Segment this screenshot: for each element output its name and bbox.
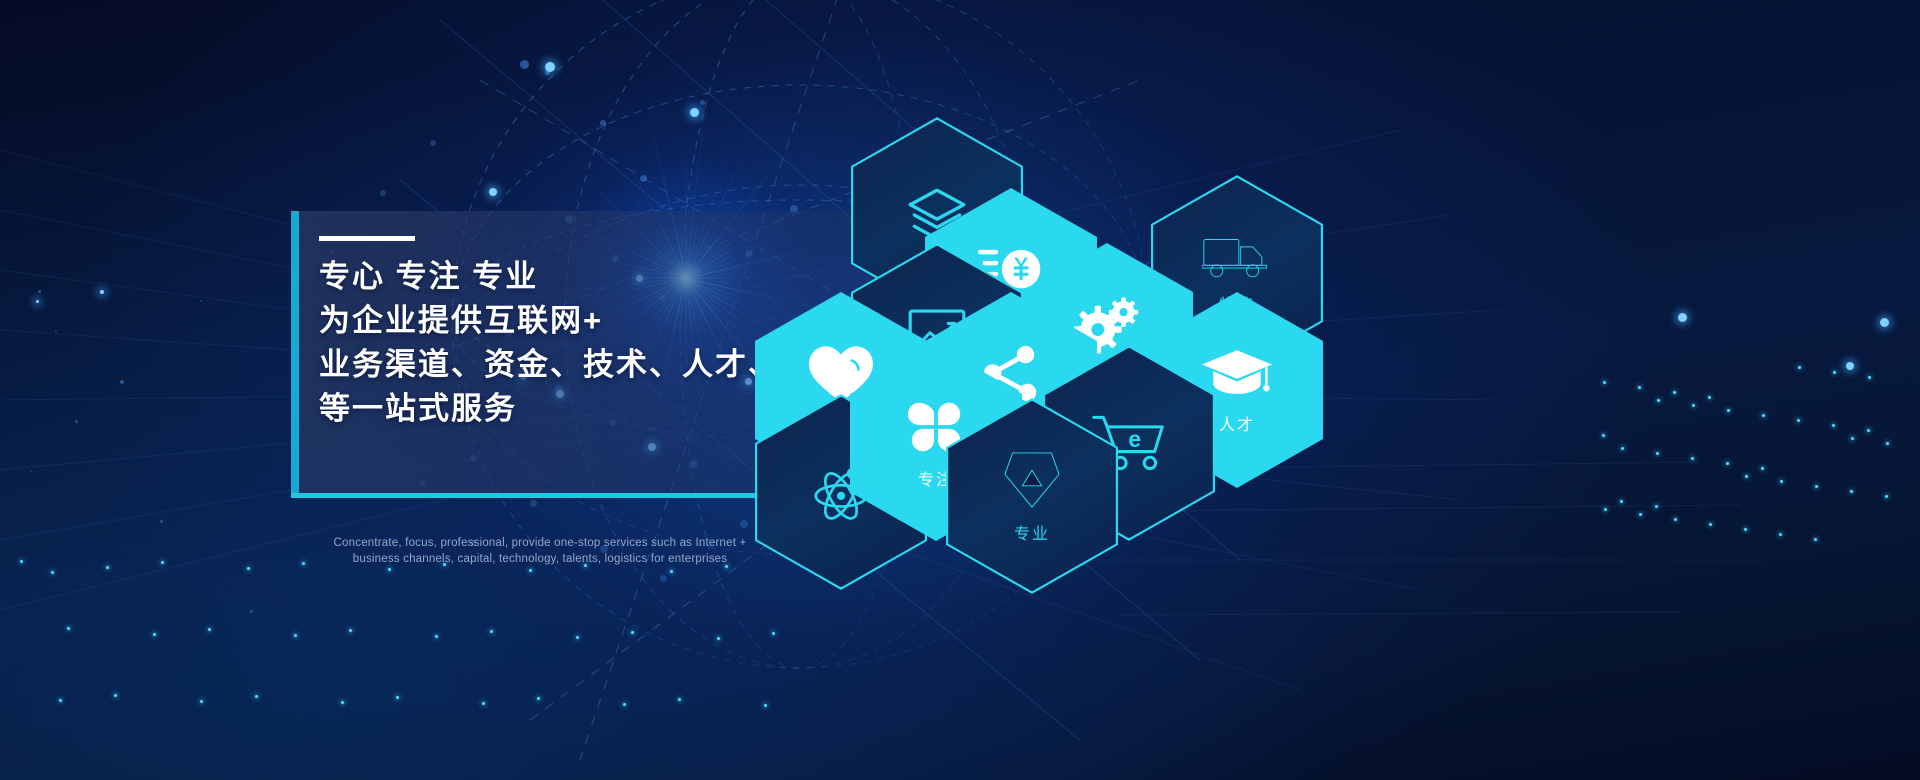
hexagon-grid: 资金物流技术专心业务渠道人才专注e专业 — [0, 0, 1920, 780]
hero-banner: 专心 专注 专业 为企业提供互联网+ 业务渠道、资金、技术、人才、物流 等一站式… — [0, 0, 1920, 780]
hex-label: 人才 — [1219, 411, 1255, 435]
svg-text:e: e — [1128, 426, 1141, 452]
diamond-icon — [1003, 449, 1061, 511]
truck-icon — [1202, 232, 1272, 282]
hex-label: 专业 — [1014, 520, 1050, 544]
